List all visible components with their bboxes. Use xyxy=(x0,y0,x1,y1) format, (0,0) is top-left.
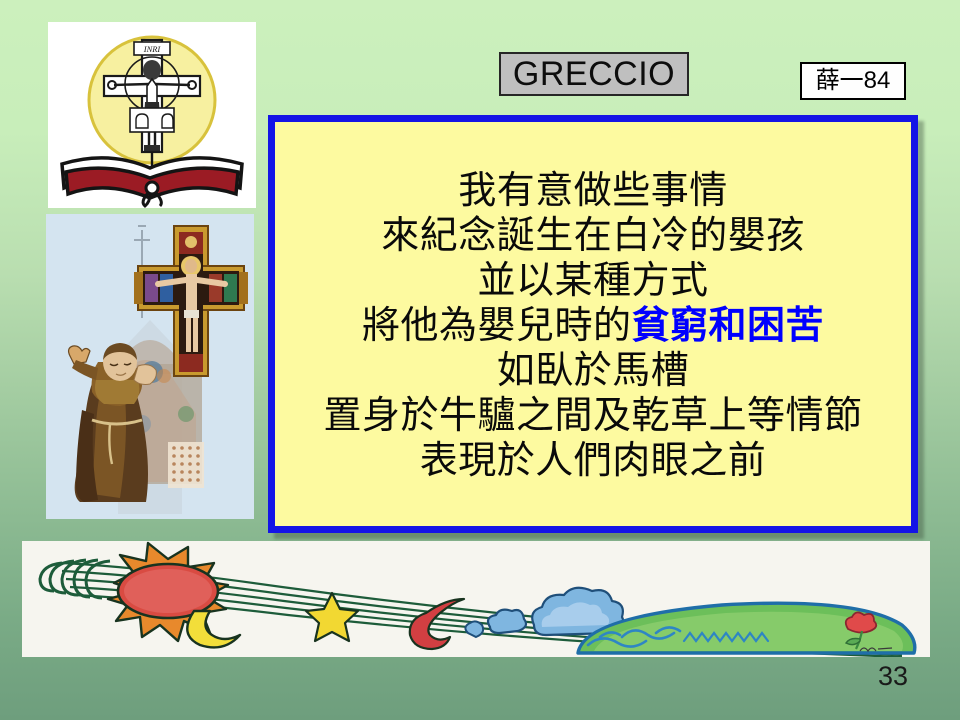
logo-artwork: INRI xyxy=(48,22,256,208)
quote-text-block: 我有意做些事情 來紀念誕生在白冷的嬰孩 並以某種方式 將他為嬰兒時的貧窮和困苦 … xyxy=(275,169,911,484)
quote-line: 表現於人們肉眼之前 xyxy=(275,439,911,484)
quote-line: 置身於牛驢之間及乾草上等情節 xyxy=(275,394,911,439)
quote-line: 我有意做些事情 xyxy=(275,169,911,214)
quote-line: 如臥於馬槽 xyxy=(275,349,911,394)
reference-citation-box: 薛一84 xyxy=(800,62,906,100)
reference-citation-text: 薛一84 xyxy=(816,69,891,93)
quote-line: 並以某種方式 xyxy=(275,259,911,304)
quote-line-plain: 表現於人們肉眼之前 xyxy=(420,440,767,482)
quote-line: 將他為嬰兒時的貧窮和困苦 xyxy=(275,304,911,349)
page-number: 33 xyxy=(878,663,908,690)
creation-drawing-banner-image xyxy=(22,541,930,657)
quote-line-plain: 我有意做些事情 xyxy=(458,170,728,212)
quote-line-plain: 如臥於馬槽 xyxy=(497,350,690,392)
quote-line-plain: 來紀念誕生在白冷的嬰孩 xyxy=(381,215,805,257)
cross-and-open-book-logo-image: INRI xyxy=(48,22,256,208)
quote-line: 來紀念誕生在白冷的嬰孩 xyxy=(275,214,911,259)
saint-francis-before-crucifix-image xyxy=(46,214,254,519)
quote-line-plain: 將他為嬰兒時的 xyxy=(362,305,632,347)
quote-line-plain: 置身於牛驢之間及乾草上等情節 xyxy=(323,395,862,437)
quote-line-plain: 並以某種方式 xyxy=(477,260,708,302)
quote-panel: 我有意做些事情 來紀念誕生在白冷的嬰孩 並以某種方式 將他為嬰兒時的貧窮和困苦 … xyxy=(268,115,918,533)
banner-artwork xyxy=(22,541,930,657)
slide-title-box: GRECCIO xyxy=(499,52,689,96)
francis-artwork xyxy=(46,214,254,519)
page-title: GRECCIO xyxy=(513,57,675,91)
quote-line-highlight: 貧窮和困苦 xyxy=(632,305,825,347)
svg-text:INRI: INRI xyxy=(143,44,162,54)
slide-canvas: INRI xyxy=(0,0,960,720)
